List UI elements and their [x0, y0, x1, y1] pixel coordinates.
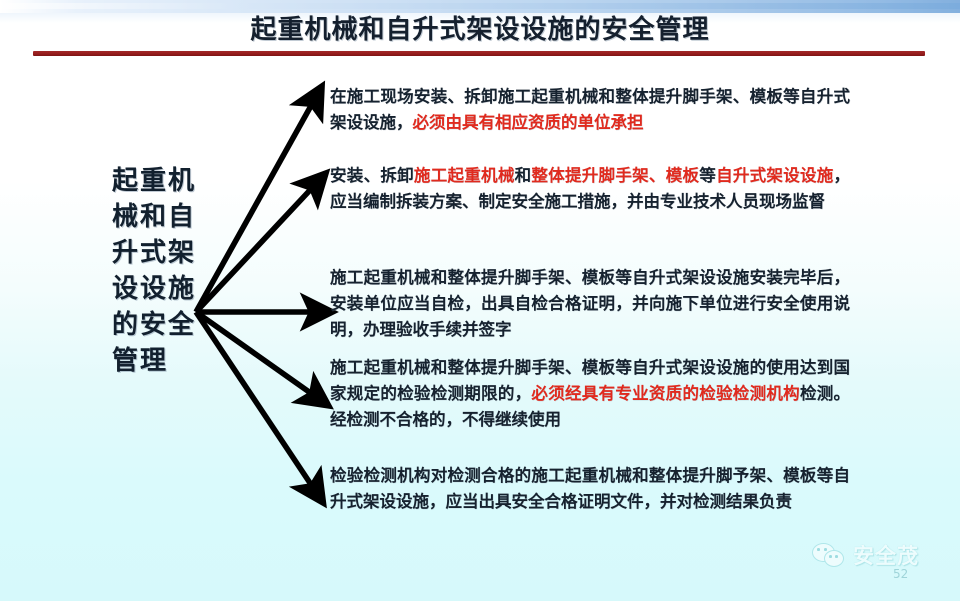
arrow-5: [196, 312, 312, 486]
top-band-highlight: [0, 3, 960, 9]
watermark-label: 安全茂: [853, 540, 919, 570]
text-run-2: 施工起重机械: [414, 166, 515, 185]
text-run-1: 安装、拆卸: [330, 166, 414, 185]
content-block-2: 安装、拆卸施工起重机械和整体提升脚手架、模板等自升式架设设施，应当编制拆装方案、…: [330, 163, 850, 215]
page-number: 52: [893, 567, 908, 581]
arrow-2: [196, 188, 312, 312]
content-block-3: 施工起重机械和整体提升脚手架、模板等自升式架设设施安装完毕后，安装单位应当自检，…: [330, 265, 850, 343]
arrow-1: [196, 104, 312, 312]
watermark: 安全茂: [812, 540, 919, 570]
text-run-1: 检验检测机构对检测合格的施工起重机械和整体提升脚予架、模板等自升式架设设施，应当…: [330, 466, 850, 511]
left-vertical-label: 起重机械和自升式架设设施的安全管理: [112, 163, 196, 379]
content-block-5: 检验检测机构对检测合格的施工起重机械和整体提升脚予架、模板等自升式架设设施，应当…: [330, 463, 850, 515]
top-decorative-band: [0, 0, 960, 13]
text-run-5: 等: [699, 166, 716, 185]
title-underline-rule: [33, 51, 925, 56]
text-run-3: 和: [515, 166, 532, 185]
text-run-2: 必须由具有相应资质的单位承担: [413, 113, 644, 132]
arrow-4: [196, 312, 312, 394]
content-block-1: 在施工现场安装、拆卸施工起重机械和整体提升脚手架、模板等自升式架设设施，必须由具…: [330, 84, 850, 136]
text-run-4: 整体提升脚手架、模板: [531, 166, 699, 185]
text-run-2: 必须经具有专业资质的检验检测机构: [531, 384, 800, 403]
slide-canvas: 起重机械和自升式架设设施的安全管理 起重机械和自升式架设设施的安全管理 在施工现…: [0, 0, 960, 601]
content-block-4: 施工起重机械和整体提升脚手架、模板等自升式架设设施的使用达到国家规定的检验检测期…: [330, 355, 850, 433]
text-run-1: 施工起重机械和整体提升脚手架、模板等自升式架设设施安装完毕后，安装单位应当自检，…: [330, 268, 850, 339]
slide-title: 起重机械和自升式架设设施的安全管理: [0, 14, 960, 46]
wechat-icon: [812, 543, 846, 567]
text-run-6: 自升式架设设施: [716, 166, 833, 185]
